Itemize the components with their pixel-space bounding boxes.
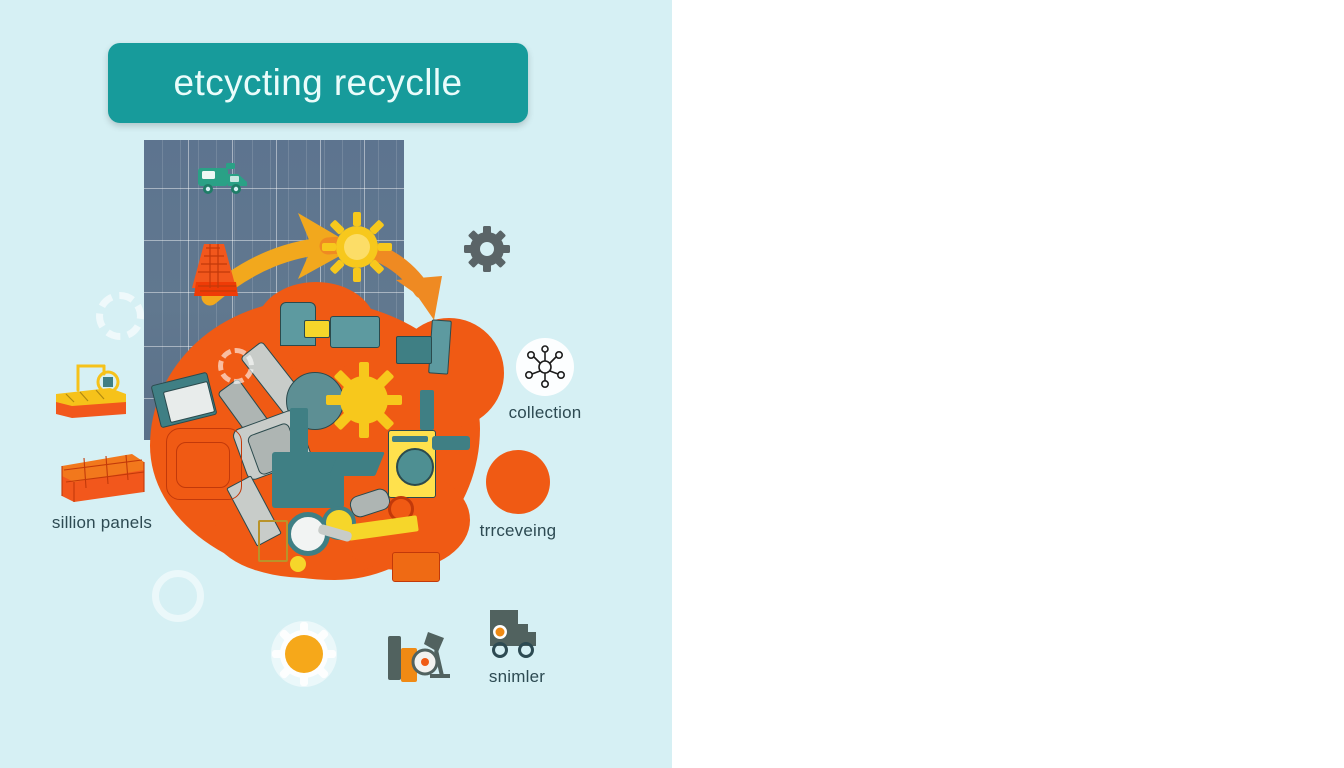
left-panel: sillion panels collection trrceveing (0, 0, 672, 768)
orange-circle-icon (486, 450, 550, 514)
label-silicon-panels[interactable]: sillion panels (32, 452, 172, 533)
label-text: collection (509, 403, 582, 423)
label-recovering[interactable]: trrceveing (458, 450, 578, 541)
infographic-canvas: sillion panels collection trrceveing (0, 0, 1344, 768)
scrap-item (272, 452, 344, 508)
scrap-item (290, 556, 306, 572)
left-title-text: etcycting recyclle (174, 62, 463, 104)
label-text: snimler (489, 667, 545, 687)
recycle-ring-icon (96, 292, 144, 340)
scrap-item (396, 336, 432, 364)
scrap-item (290, 408, 308, 466)
label-smelter[interactable]: snimler (462, 604, 572, 687)
scrap-item (420, 390, 434, 430)
crane-icon (186, 238, 246, 300)
scrap-gear (396, 448, 434, 486)
scrap-ladder (258, 520, 288, 562)
molecule-network-icon (516, 338, 574, 396)
label-collection[interactable]: collection (490, 338, 600, 423)
recycle-ring-icon (152, 570, 204, 622)
scrap-item (432, 436, 470, 450)
scrap-item (329, 452, 385, 476)
sunburst-icon (322, 212, 392, 282)
label-text: sillion panels (52, 513, 152, 533)
right-panel: sheding recvtting (672, 0, 1344, 768)
left-panel-title: etcycting recyclle (108, 43, 528, 123)
scrap-item (304, 320, 330, 338)
sun-icon (268, 618, 340, 690)
scrap-forklift (392, 552, 440, 582)
gear-icon (464, 226, 510, 272)
recycle-ring-icon (218, 348, 254, 384)
scrap-item (176, 442, 230, 488)
robot-arm-icon (384, 624, 452, 686)
scrap-item (330, 316, 380, 348)
label-text: trrceveing (480, 521, 557, 541)
crane-platform-icon (52, 356, 134, 420)
blob-sunburst-icon (326, 362, 402, 438)
truck-cart-icon (486, 604, 548, 660)
solar-panel-stack-icon (56, 452, 148, 506)
